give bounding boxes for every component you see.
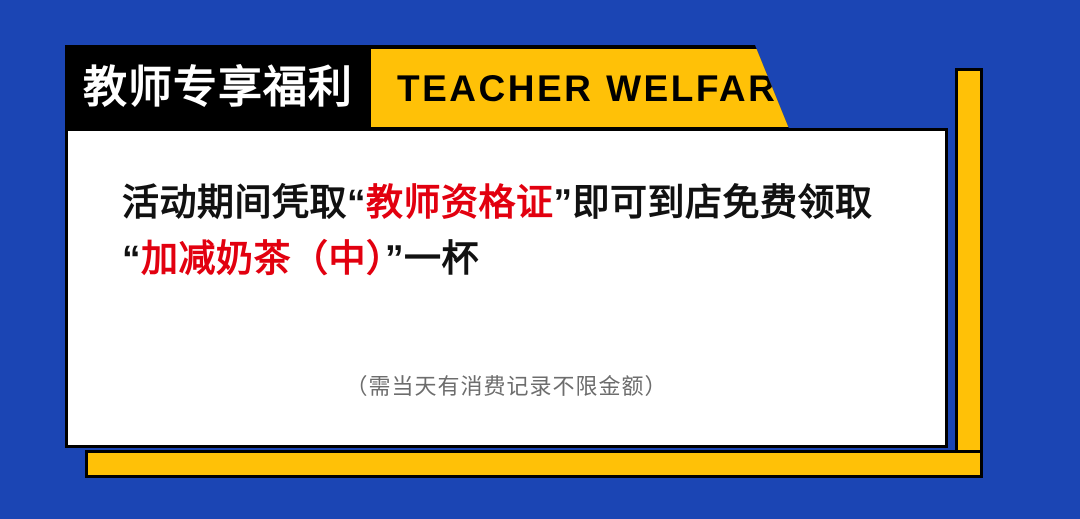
headline-line1-suffix: ”即可到店免费领取 — [554, 182, 873, 223]
headline-line2-quote-open: “ — [122, 238, 141, 279]
header-banner: 教师专享福利 TEACHER WELFARE — [65, 45, 790, 131]
headline-line-1: 活动期间凭取“教师资格证”即可到店免费领取 — [122, 175, 891, 231]
headline-line2-highlight: 加减奶茶（中） — [141, 238, 385, 279]
headline-line1-highlight: 教师资格证 — [366, 182, 554, 223]
footnote-text: （需当天有消费记录不限金额） — [68, 369, 945, 401]
poster-canvas: 活动期间凭取“教师资格证”即可到店免费领取 “加减奶茶（中）”一杯 （需当天有消… — [0, 0, 1080, 519]
header-title-cn: 教师专享福利 — [65, 66, 369, 110]
content-card: 活动期间凭取“教师资格证”即可到店免费领取 “加减奶茶（中）”一杯 （需当天有消… — [65, 128, 948, 448]
headline-line2-quote-close: ” — [385, 238, 404, 279]
card-body: 活动期间凭取“教师资格证”即可到店免费领取 “加减奶茶（中）”一杯 （需当天有消… — [68, 131, 945, 445]
decor-yellow-bottom-strip — [85, 450, 983, 478]
headline-line-2: “加减奶茶（中）”一杯 — [122, 231, 891, 287]
headline-line1-prefix: 活动期间凭取“ — [122, 182, 366, 223]
header-title-en-box: TEACHER WELFARE — [371, 49, 827, 127]
decor-yellow-right-strip — [955, 68, 983, 470]
headline-line2-tail: 一杯 — [404, 238, 479, 279]
header-title-en: TEACHER WELFARE — [397, 70, 805, 107]
